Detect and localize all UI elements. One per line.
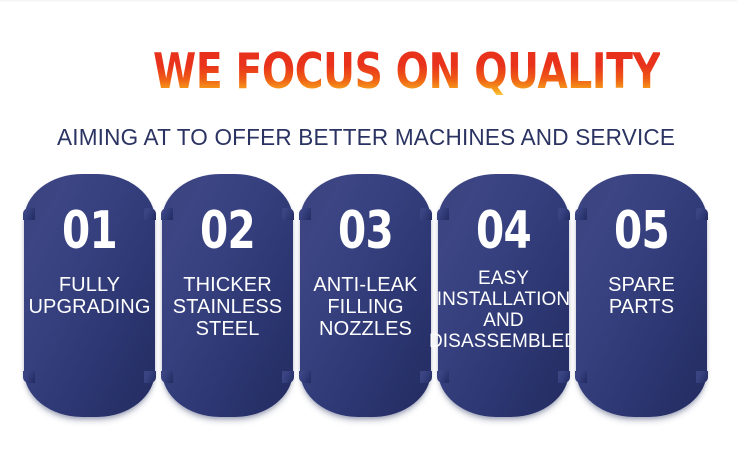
page-title: WE FOCUS ON QUALITY xyxy=(153,44,660,100)
card-notch-top-right xyxy=(420,208,432,220)
card-number: 03 xyxy=(314,204,416,258)
card-title: THICKER STAINLESS STEEL xyxy=(153,274,302,340)
card-notch-top-left xyxy=(23,208,35,220)
card-number: 05 xyxy=(590,204,692,258)
quality-feature-poster: WE FOCUS ON QUALITY WE FOCUS ON QUALITY … xyxy=(0,0,737,449)
top-divider xyxy=(0,0,737,2)
card-notch-top-left xyxy=(437,208,449,220)
card-notch-top-right xyxy=(144,208,156,220)
feature-card-05: 05 SPARE PARTS xyxy=(576,174,707,417)
card-notch-bottom-right xyxy=(696,371,708,383)
card-notch-bottom-left xyxy=(161,371,173,383)
card-title: ANTI-LEAK FILLING NOZZLES xyxy=(291,274,440,340)
card-notch-top-left xyxy=(161,208,173,220)
feature-card-01: 01 FULLY UPGRADING xyxy=(24,174,155,417)
card-notch-top-right xyxy=(282,208,294,220)
card-notch-bottom-left xyxy=(437,371,449,383)
page-subtitle: AIMING AT TO OFFER BETTER MACHINES AND S… xyxy=(57,122,684,152)
feature-card-02: 02 THICKER STAINLESS STEEL xyxy=(162,174,293,417)
card-notch-top-right xyxy=(558,208,570,220)
card-notch-top-right xyxy=(696,208,708,220)
card-notch-bottom-right xyxy=(558,371,570,383)
card-title: SPARE PARTS xyxy=(567,274,716,318)
card-title: EASY INSTALLATION AND DISASSEMBLED xyxy=(422,268,585,352)
card-notch-top-left xyxy=(575,208,587,220)
card-notch-bottom-left xyxy=(299,371,311,383)
feature-card-04: 04 EASY INSTALLATION AND DISASSEMBLED xyxy=(438,174,569,417)
feature-card-03: 03 ANTI-LEAK FILLING NOZZLES xyxy=(300,174,431,417)
card-notch-bottom-left xyxy=(23,371,35,383)
card-number: 04 xyxy=(452,204,554,258)
card-number: 01 xyxy=(38,204,140,258)
card-notch-bottom-right xyxy=(144,371,156,383)
feature-card-list: 01 FULLY UPGRADING 02 THICKER STAINLESS … xyxy=(24,174,724,420)
card-notch-bottom-right xyxy=(282,371,294,383)
card-notch-top-left xyxy=(299,208,311,220)
card-number: 02 xyxy=(176,204,278,258)
card-notch-bottom-right xyxy=(420,371,432,383)
card-notch-bottom-left xyxy=(575,371,587,383)
card-title: FULLY UPGRADING xyxy=(15,274,164,318)
headline-block: WE FOCUS ON QUALITY WE FOCUS ON QUALITY xyxy=(0,44,737,104)
